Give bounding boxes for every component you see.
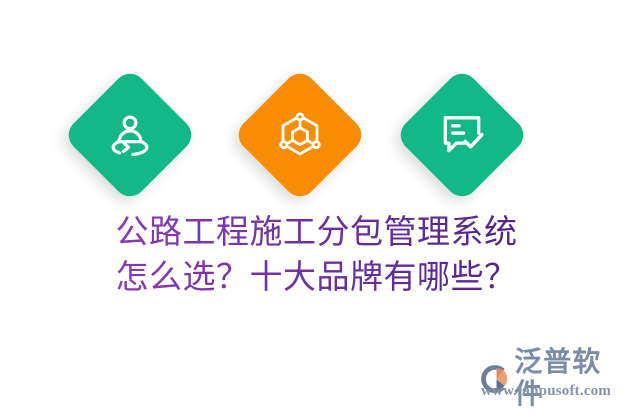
brand-watermark[interactable]: 泛普软件 www.fanpusoft.com (479, 347, 621, 405)
headline-line-1: 公路工程施工分包管理系统 (0, 211, 633, 256)
icon-row (0, 0, 633, 225)
headline-block: 公路工程施工分包管理系统 怎么选？十大品牌有哪些？ (0, 211, 633, 301)
headline-line-2: 怎么选？十大品牌有哪些？ (0, 256, 633, 301)
brand-url: www.fanpusoft.com (481, 383, 611, 400)
icon-tile-approval-review[interactable] (401, 62, 523, 208)
icon-tile-subcontractor-management[interactable] (69, 62, 191, 208)
brand-name: 泛普软件 (514, 347, 621, 411)
chat-bubble-check-icon (437, 110, 487, 160)
brand-row: 泛普软件 (479, 347, 621, 411)
hexagon-network-cube-icon (275, 110, 325, 160)
poster-canvas: 公路工程施工分包管理系统 怎么选？十大品牌有哪些？ 泛普软件 www.fanpu… (0, 0, 633, 417)
icon-tile-network-structure[interactable] (239, 62, 361, 208)
person-orbit-icon (105, 110, 155, 160)
